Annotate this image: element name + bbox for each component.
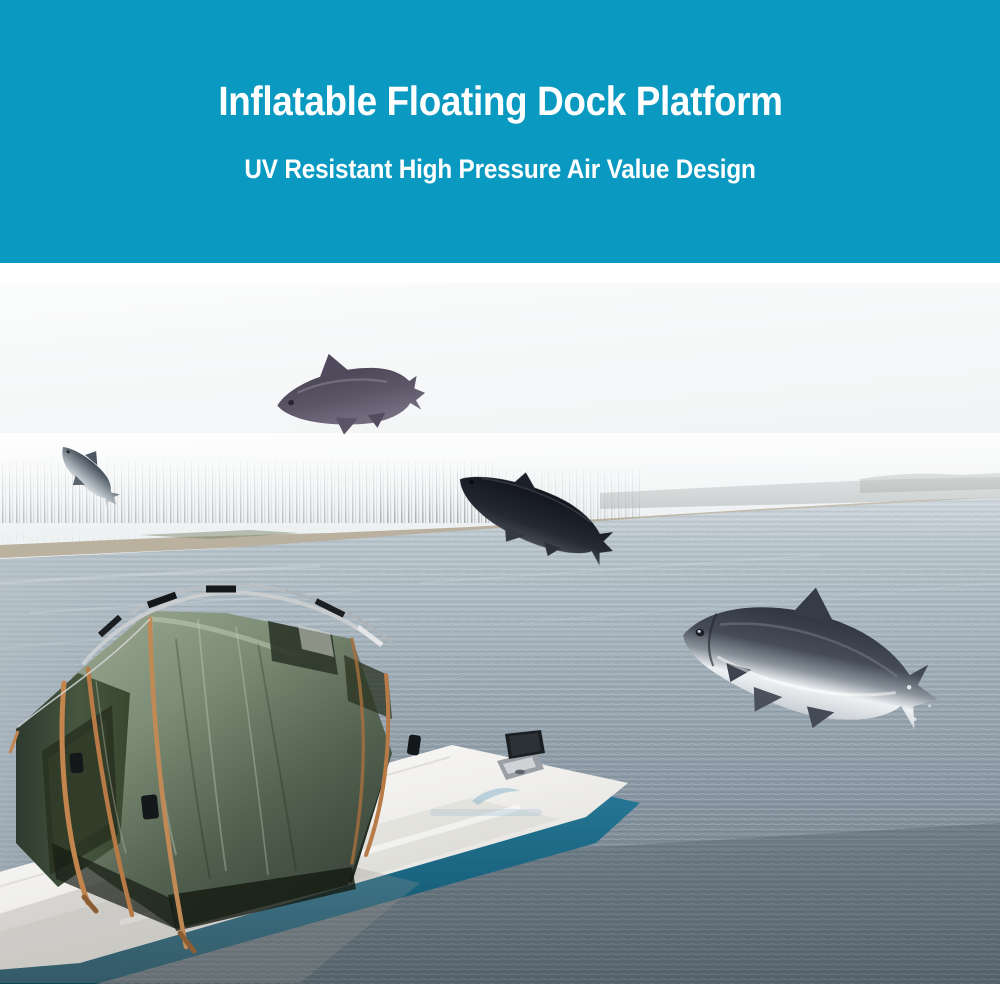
product-photo bbox=[0, 283, 1000, 984]
banner-divider bbox=[0, 263, 1000, 283]
page-title: Inflatable Floating Dock Platform bbox=[218, 81, 782, 122]
product-photo-image bbox=[0, 283, 1000, 984]
header-banner: Inflatable Floating Dock Platform UV Res… bbox=[0, 0, 1000, 263]
footer-strip bbox=[0, 984, 1000, 1000]
page-subtitle: UV Resistant High Pressure Air Value Des… bbox=[244, 156, 755, 183]
product-banner-page: Inflatable Floating Dock Platform UV Res… bbox=[0, 0, 1000, 1000]
